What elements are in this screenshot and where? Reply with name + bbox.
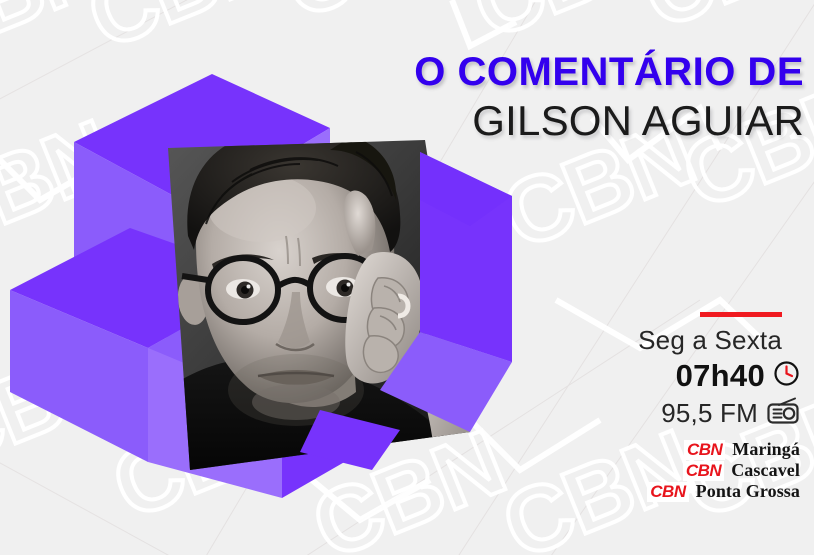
cbn-logo: CBN [683, 461, 724, 481]
red-divider [700, 312, 782, 317]
clock-icon [773, 360, 800, 392]
days-row: Seg a Sexta [510, 325, 800, 356]
radio-icon [766, 397, 800, 430]
days-label: Seg a Sexta [638, 325, 782, 356]
cbn-logo: CBN [647, 482, 688, 502]
time-row: 07h40 [510, 358, 800, 394]
station-city: Ponta Grossa [696, 482, 800, 502]
list-item: CBN Maringá [510, 440, 800, 460]
headline-line-2: GILSON AGUIAR [414, 100, 804, 142]
time-label: 07h40 [676, 358, 765, 394]
station-list: CBN Maringá CBN Cascavel CBN Ponta Gross… [510, 440, 800, 502]
frequency-label: 95,5 FM [661, 398, 758, 429]
station-city: Cascavel [731, 461, 800, 481]
list-item: CBN Ponta Grossa [510, 482, 800, 502]
schedule-info: Seg a Sexta 07h40 95,5 FM [510, 312, 800, 503]
headline: O COMENTÁRIO DE GILSON AGUIAR [414, 52, 804, 142]
headline-line-1: O COMENTÁRIO DE [414, 52, 804, 92]
list-item: CBN Cascavel [510, 461, 800, 481]
station-city: Maringá [732, 440, 800, 460]
promo-banner: CBN CBN CBN CBN CBN CBN CBN CBN CBN CBN … [0, 0, 814, 555]
cbn-logo: CBN [684, 440, 725, 460]
frequency-row: 95,5 FM [510, 397, 800, 430]
